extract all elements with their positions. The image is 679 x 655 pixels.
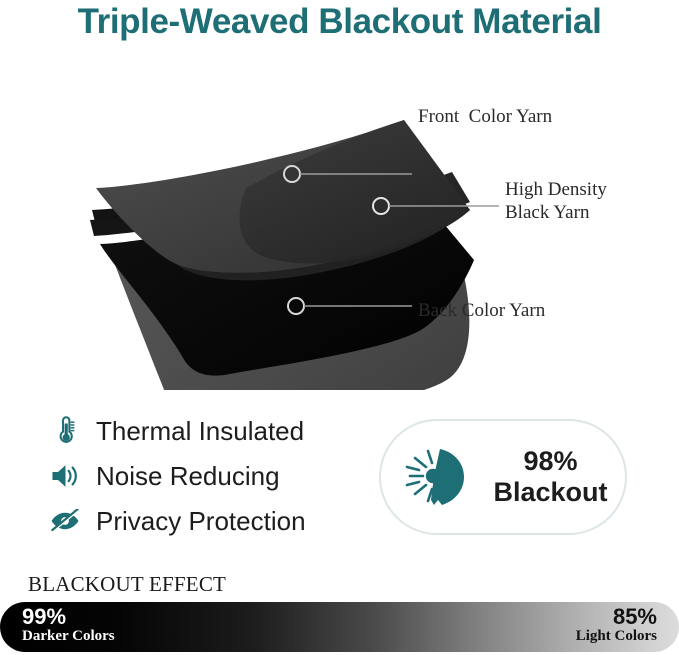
fabric-layers-illustration [0,60,679,390]
light-colors-percent: 85% [576,606,657,628]
thermometer-icon [47,414,83,448]
fabric-layers-diagram: Front Color Yarn High Density Black Yarn… [0,60,679,390]
feature-item-noise-reducing: Noise Reducing [47,455,367,497]
gradient-bar-stat-light: 85% Light Colors [576,606,657,644]
sun-blocked-by-curtain-icon [389,446,484,508]
feature-item-thermal-insulated: Thermal Insulated [47,410,367,452]
eye-slash-icon [47,504,83,538]
speaker-sound-icon [47,459,83,493]
features-list: Thermal Insulated Noise Reducing Privacy… [47,410,367,545]
light-colors-label: Light Colors [576,629,657,644]
blackout-label: Blackout [493,477,607,507]
callout-label-front-color-yarn: Front Color Yarn [418,105,552,128]
blackout-effect-gradient-bar: 99% Darker Colors 85% Light Colors [0,602,679,652]
darker-colors-label: Darker Colors [22,629,115,644]
blackout-percent: 98% [523,446,577,476]
darker-colors-percent: 99% [22,606,115,628]
gradient-bar-stat-darker: 99% Darker Colors [22,606,115,644]
feature-label-thermal-insulated: Thermal Insulated [96,416,304,447]
callout-label-back-color-yarn: Back Color Yarn [418,299,545,322]
feature-label-noise-reducing: Noise Reducing [96,461,280,492]
page-title: Triple-Weaved Blackout Material [0,2,679,42]
blackout-percentage-badge: 98% Blackout [379,419,627,535]
feature-item-privacy-protection: Privacy Protection [47,500,367,542]
blackout-badge-text: 98% Blackout [484,446,625,508]
blackout-effect-heading: BLACKOUT EFFECT [28,572,226,597]
feature-label-privacy-protection: Privacy Protection [96,506,306,537]
callout-label-high-density-black-yarn: High Density Black Yarn [505,178,607,224]
